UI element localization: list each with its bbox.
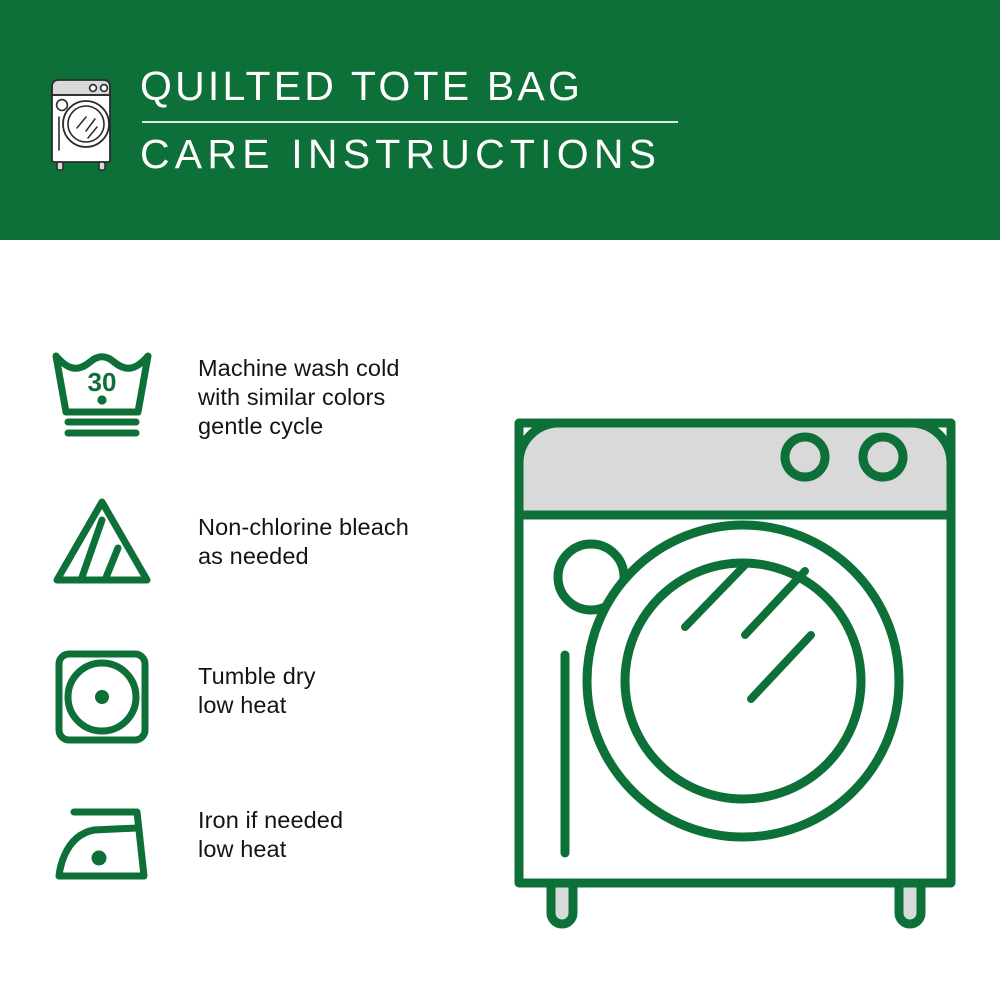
care-instruction-list: 30 Machine wash cold with similar colors…: [48, 340, 478, 940]
knob-left: [785, 437, 825, 477]
care-instruction-text: Tumble dry low heat: [198, 640, 316, 720]
care-instruction-item: Non-chlorine bleach as needed: [48, 490, 478, 640]
care-instruction-text: Non-chlorine bleach as needed: [198, 490, 409, 571]
wash-temp-value: 30: [88, 367, 117, 397]
care-instruction-item: 30 Machine wash cold with similar colors…: [48, 340, 478, 490]
page-title: QUILTED TOTE BAG: [140, 66, 678, 107]
front-load-washing-machine-illustration: [495, 335, 975, 935]
iron-icon: [48, 790, 160, 894]
tumble-dry-icon: [48, 640, 160, 744]
care-instruction-item: Tumble dry low heat: [48, 640, 478, 790]
leg-right: [899, 883, 921, 924]
care-instruction-text: Machine wash cold with similar colors ge…: [198, 340, 400, 441]
header-title-group: QUILTED TOTE BAG CARE INSTRUCTIONS: [140, 62, 678, 175]
knob-right: [863, 437, 903, 477]
care-instruction-item: Iron if needed low heat: [48, 790, 478, 940]
content-area: 30 Machine wash cold with similar colors…: [0, 240, 1000, 1000]
care-instruction-text: Iron if needed low heat: [198, 790, 343, 864]
header-banner: QUILTED TOTE BAG CARE INSTRUCTIONS: [0, 0, 1000, 240]
door-inner-ring: [625, 563, 861, 799]
leg-left: [551, 883, 573, 924]
header-content: QUILTED TOTE BAG CARE INSTRUCTIONS: [44, 62, 678, 175]
wash-basin-30-icon: 30: [48, 340, 160, 444]
bleach-triangle-icon: [48, 490, 160, 594]
washing-machine-icon: [44, 62, 122, 172]
page-subtitle: CARE INSTRUCTIONS: [140, 134, 678, 175]
title-divider: [142, 121, 678, 123]
